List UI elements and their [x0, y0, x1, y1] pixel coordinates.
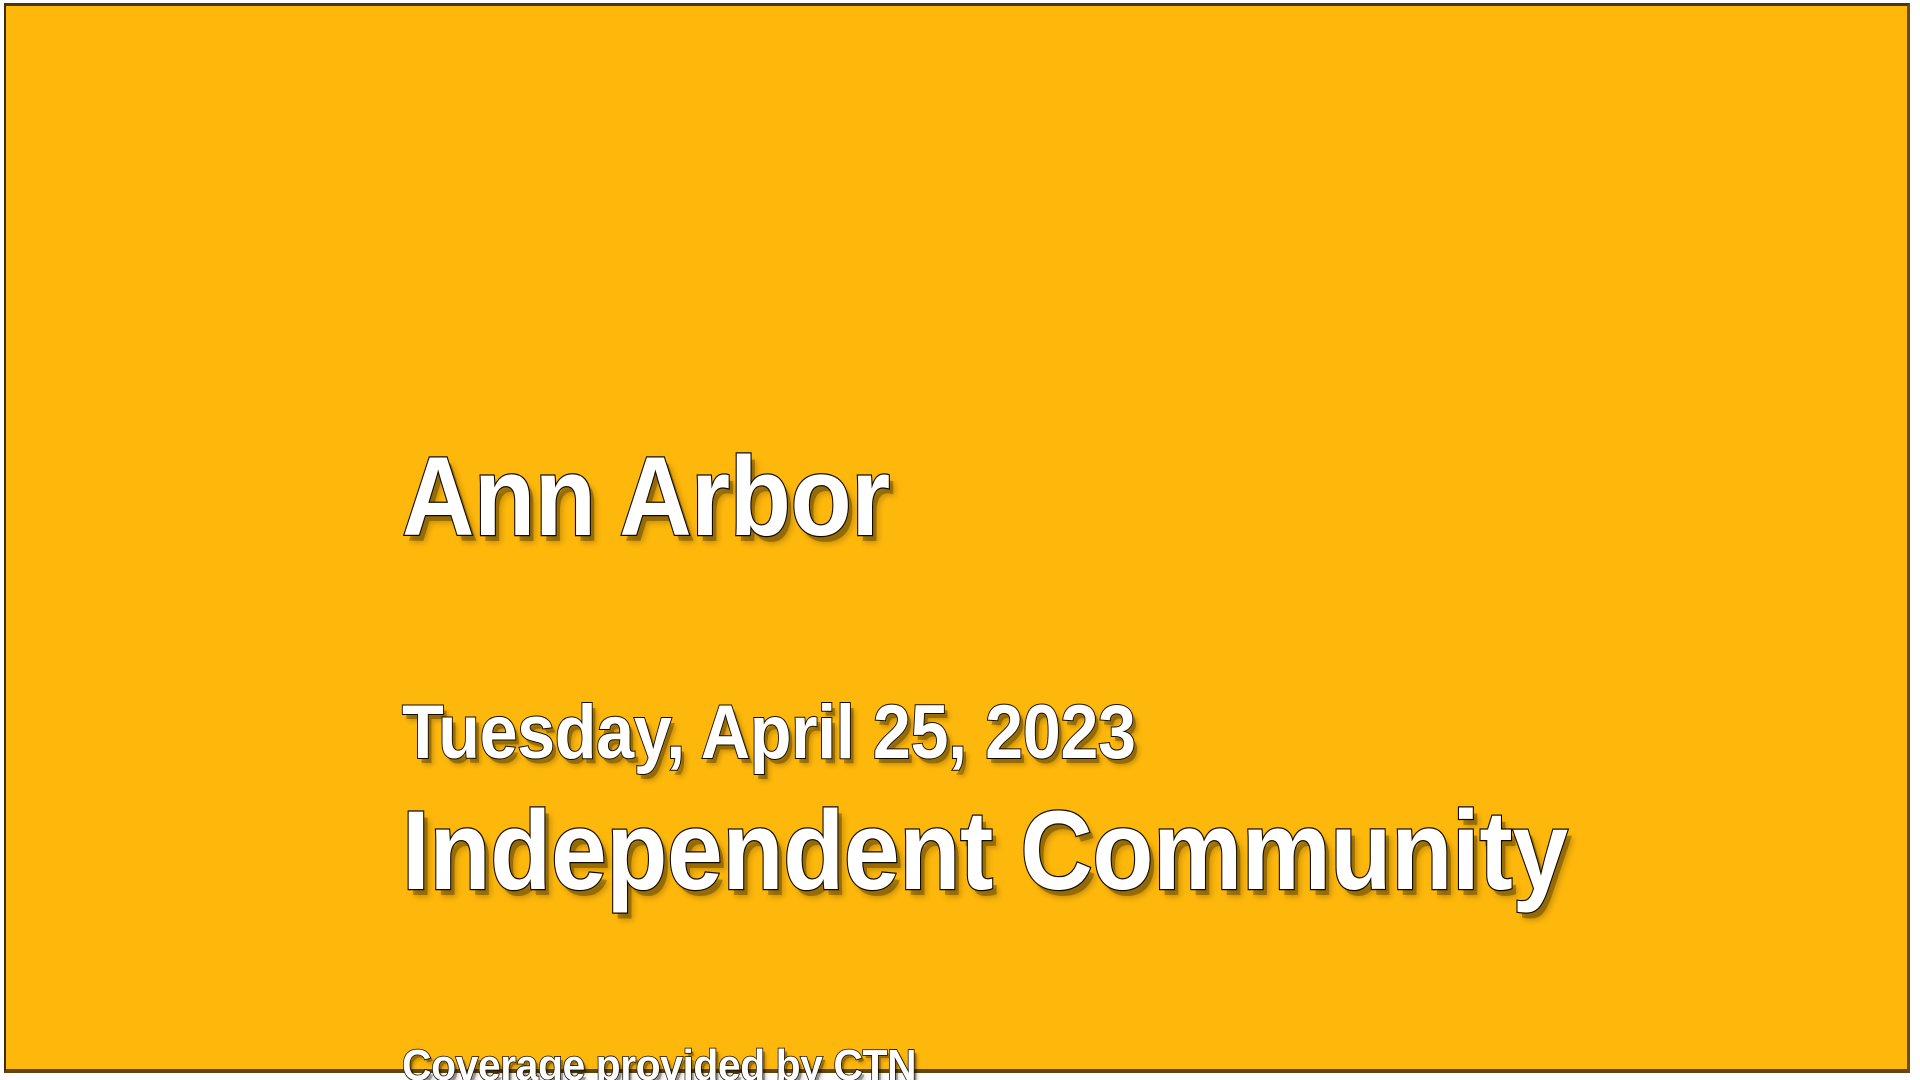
meeting-date: Tuesday, April 25, 2023	[402, 692, 1136, 774]
credits-block: Coverage provided by CTN Copyright 2022	[402, 926, 916, 1080]
slide-background-panel: Ann Arbor Independent Community Police O…	[4, 3, 1910, 1073]
coverage-credit: Coverage provided by CTN	[402, 1038, 916, 1080]
title-line-2: Independent Community	[402, 792, 1810, 910]
title-slide: Ann Arbor Independent Community Police O…	[0, 0, 1920, 1080]
title-line-1: Ann Arbor	[402, 438, 1810, 556]
